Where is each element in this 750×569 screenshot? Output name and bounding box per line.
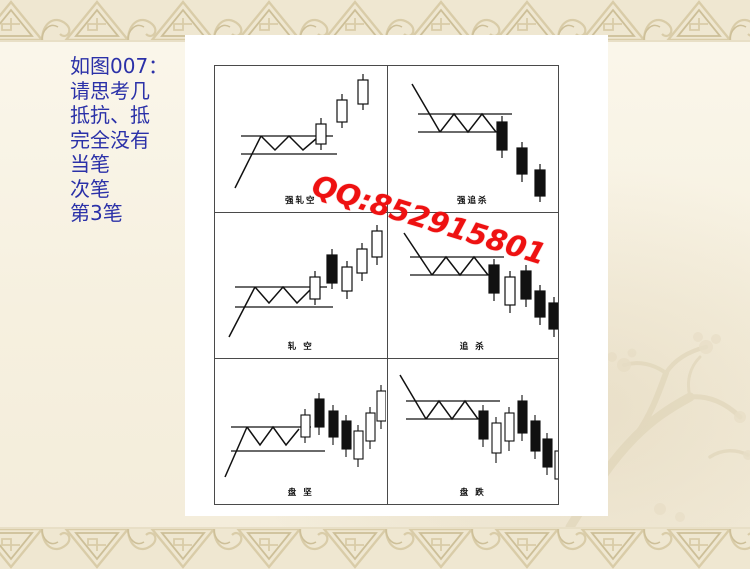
candle: [315, 393, 324, 435]
candle: [342, 415, 351, 457]
bottom-border-ornament: [0, 527, 750, 569]
panel-zha-kong: 轧 空: [215, 213, 387, 358]
candle: [543, 433, 552, 475]
candle: [521, 265, 531, 307]
candle: [518, 395, 527, 441]
candle: [535, 285, 545, 325]
candle: [366, 407, 375, 449]
panel-pan-jian: 盘 坚: [215, 359, 387, 504]
candle: [517, 142, 527, 182]
candle: [327, 249, 337, 289]
candle: [531, 415, 540, 459]
candle: [479, 405, 488, 447]
panel-qiang-zhui-sha: 强追杀: [387, 66, 559, 212]
candle: [310, 271, 320, 305]
figure-row: 盘 坚: [215, 358, 558, 504]
candle: [358, 74, 368, 110]
candle: [372, 225, 382, 265]
candle: [555, 445, 559, 487]
candle: [357, 243, 367, 281]
panel-pan-die: 盘 跌: [387, 359, 559, 504]
candle: [329, 405, 338, 445]
candle: [549, 297, 559, 337]
candle: [316, 118, 326, 150]
slide-background: 如图007： 请思考几 抵抗、抵 完全没有 当笔 次笔 第3笔: [0, 0, 750, 569]
panel-label: 轧 空: [215, 340, 387, 352]
panel-label: 盘 坚: [215, 486, 387, 498]
panel-label: 追 杀: [388, 340, 559, 352]
figure-white-panel: 强轧空: [185, 35, 608, 516]
candle: [354, 425, 363, 467]
candle: [337, 94, 347, 128]
panel-label: 盘 跌: [388, 486, 559, 498]
candle: [505, 271, 515, 313]
candle: [301, 409, 310, 443]
candle: [489, 259, 499, 301]
candle: [492, 417, 501, 463]
candle: [497, 116, 507, 158]
candle: [377, 385, 386, 429]
candle: [342, 261, 352, 299]
candlestick-pattern-figure: 强轧空: [214, 65, 559, 505]
candle: [505, 407, 514, 451]
